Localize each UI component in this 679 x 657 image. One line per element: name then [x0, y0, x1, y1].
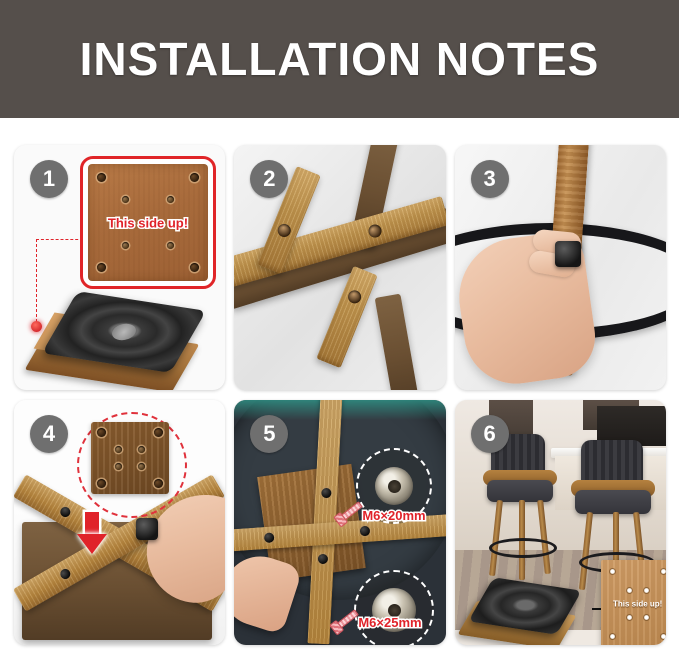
bolt-closeup-25mm — [354, 570, 434, 645]
swivel-hub — [108, 322, 139, 341]
page-header: INSTALLATION NOTES — [0, 0, 679, 118]
mounting-plate-closeup — [91, 422, 169, 494]
bolt-head-metal — [375, 467, 413, 505]
swivel-assembly-image — [32, 293, 212, 388]
black-bolt — [555, 241, 581, 267]
step-badge-4: 4 — [30, 415, 68, 453]
callout-anchor-dot — [31, 321, 42, 332]
installation-notes-page: INSTALLATION NOTES 1 This side up! — [0, 0, 679, 657]
bar-stool-left — [479, 434, 569, 584]
callout-line-vertical — [36, 239, 37, 327]
bolt-spec-label-20mm: M6×20mm — [362, 508, 425, 523]
this-side-up-label-6: This side up! — [601, 600, 666, 609]
page-title: INSTALLATION NOTES — [80, 32, 600, 86]
swivel-plate-inset — [463, 578, 583, 645]
step-panel-3[interactable]: 3 — [455, 145, 666, 390]
steps-grid: 1 This side up! — [14, 145, 666, 645]
step-panel-5[interactable]: 5 M6×20mm — [234, 400, 445, 645]
step-panel-4[interactable]: 4 — [14, 400, 225, 645]
step-panel-2[interactable]: 2 — [234, 145, 445, 390]
mounting-plate-image: This side up! — [88, 164, 208, 281]
step-badge-6: 6 — [471, 415, 509, 453]
step-panel-6[interactable]: 6 — [455, 400, 666, 645]
step-panel-1[interactable]: 1 This side up! — [14, 145, 225, 390]
this-side-up-label: This side up! — [88, 215, 208, 230]
step-badge-1: 1 — [30, 160, 68, 198]
bolt-spec-label-25mm: M6×25mm — [358, 615, 421, 630]
black-bolt-4 — [136, 518, 158, 540]
mounting-plate-inset: This side up! — [601, 560, 666, 645]
plate-closeup-inset: This side up! — [80, 156, 216, 289]
step-badge-3: 3 — [471, 160, 509, 198]
